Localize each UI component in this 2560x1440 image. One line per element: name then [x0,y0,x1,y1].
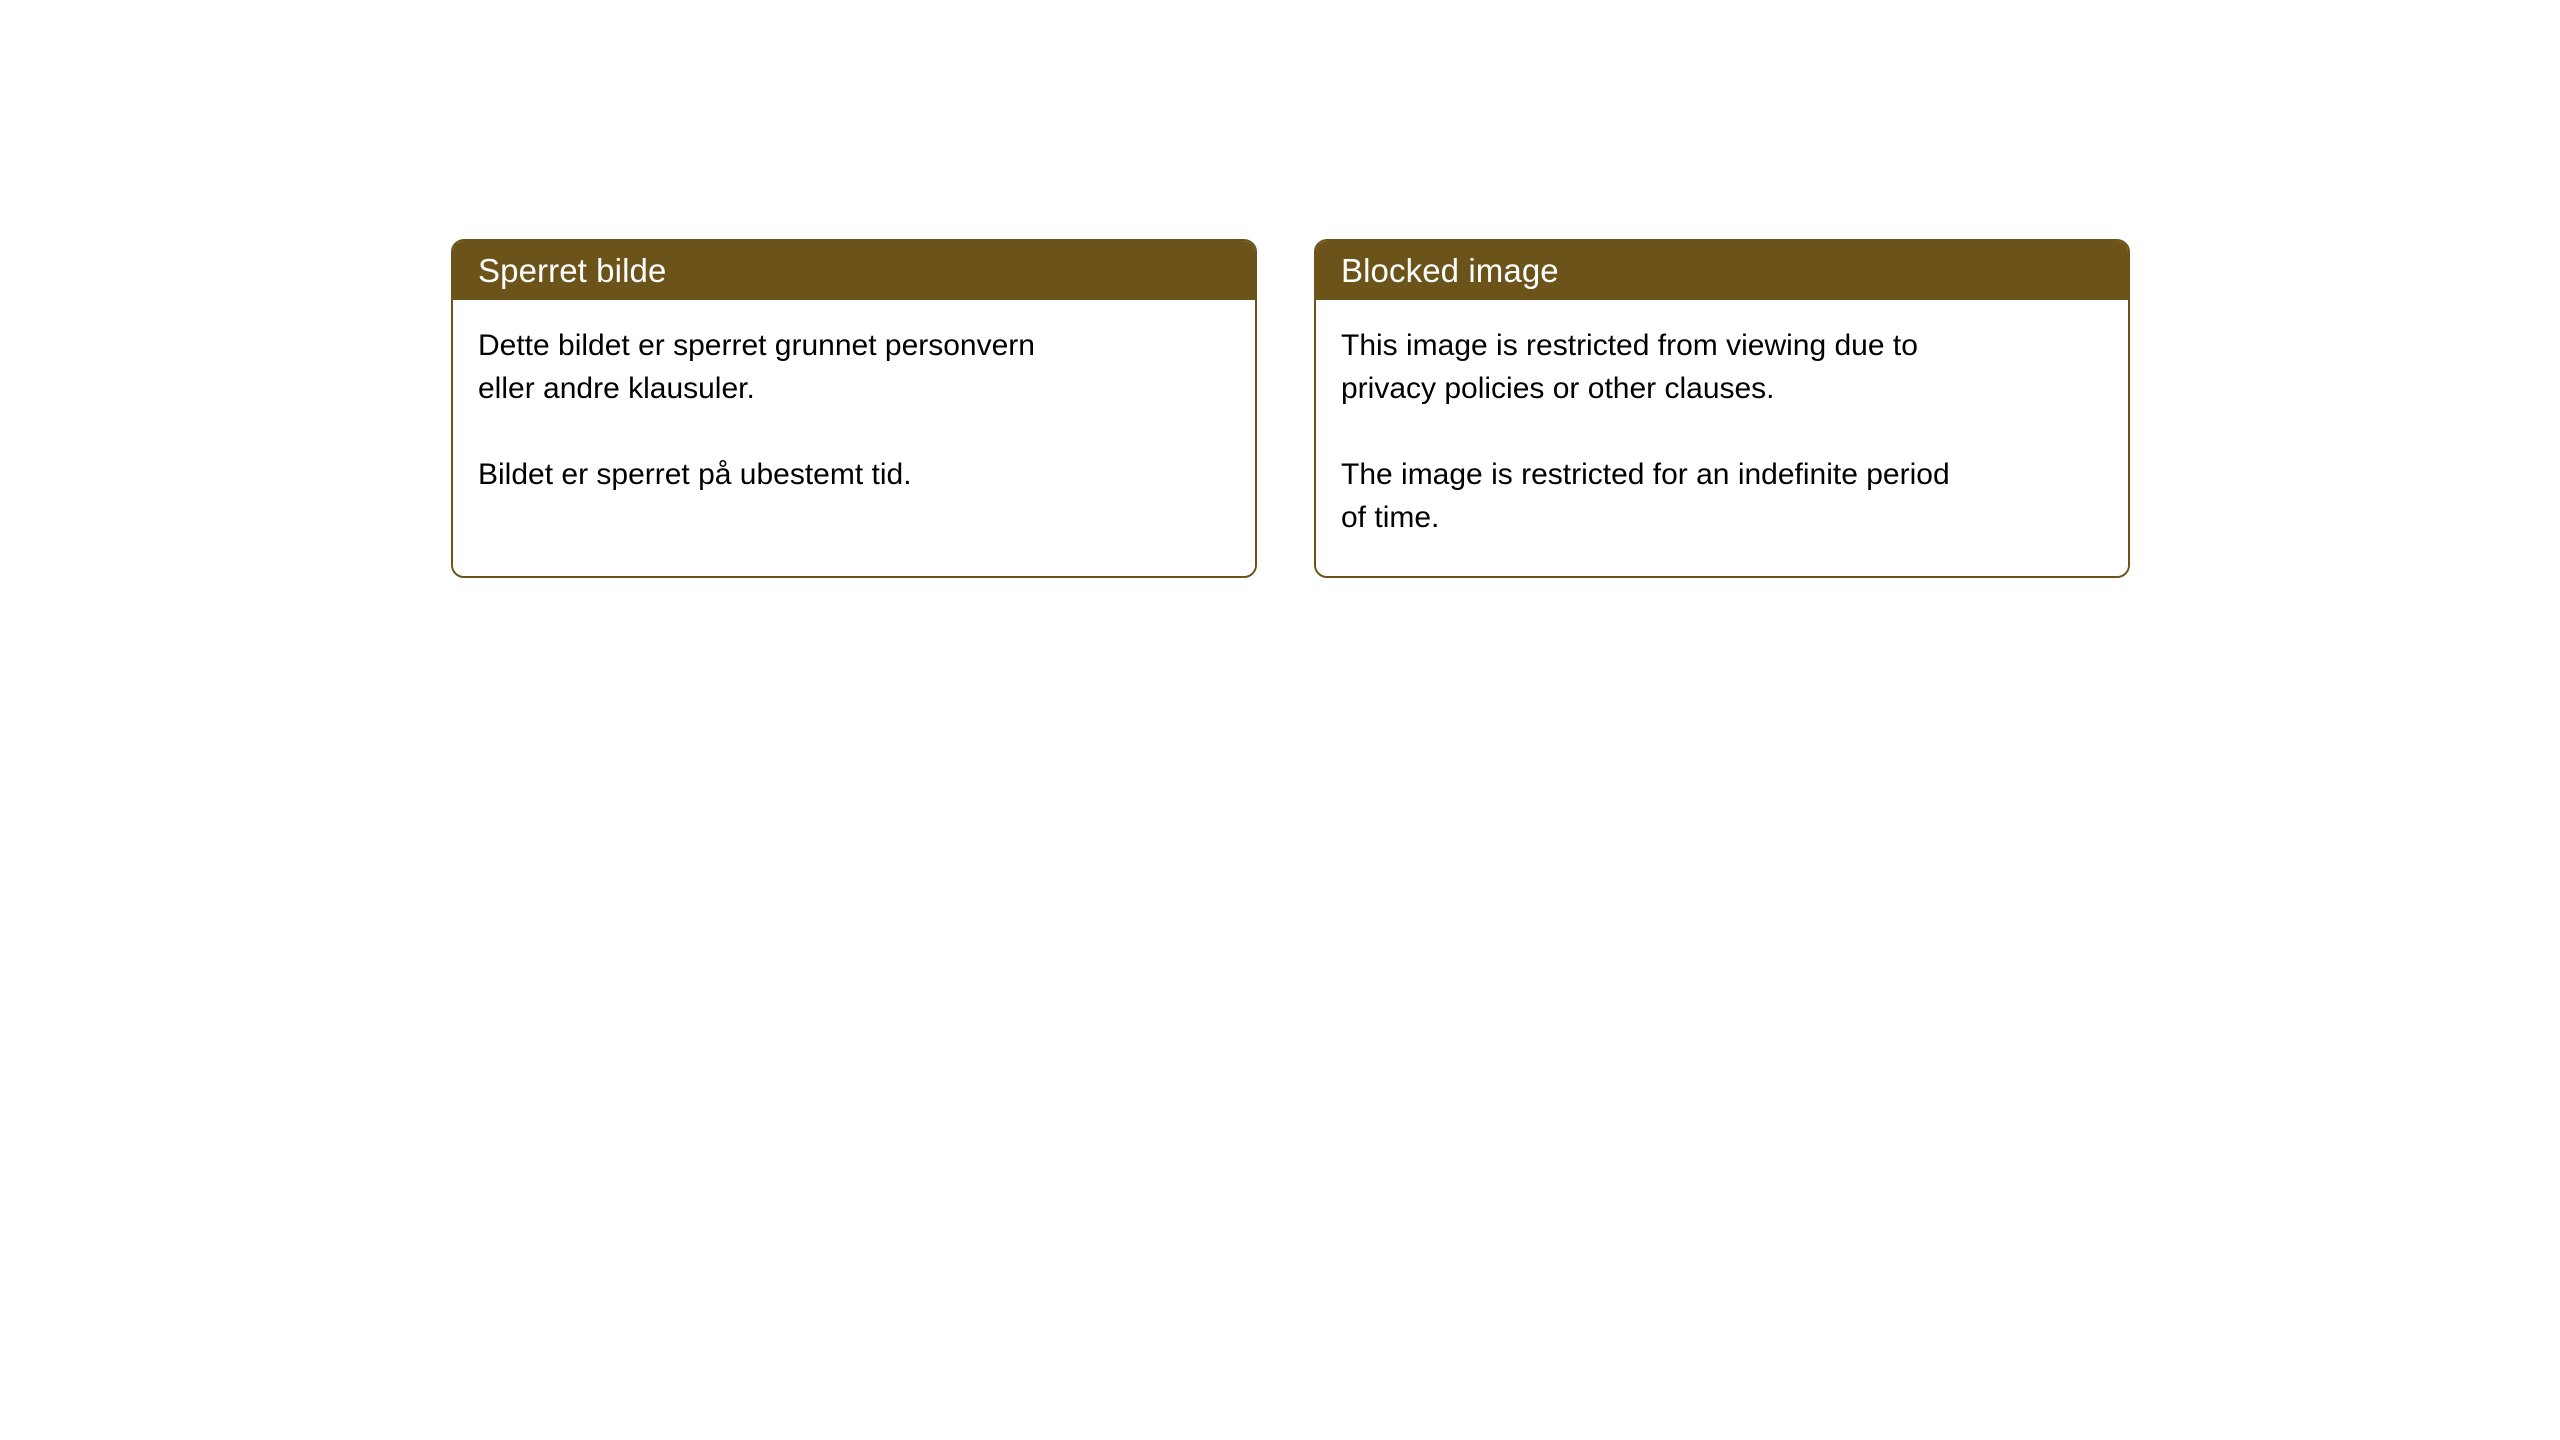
card-body-english: This image is restricted from viewing du… [1316,300,2128,576]
card-paragraph-norwegian-1: Dette bildet er sperret grunnet personve… [478,324,1229,410]
blocked-image-card-norwegian: Sperret bilde Dette bildet er sperret gr… [451,239,1257,578]
blocked-image-notice-container: Sperret bilde Dette bildet er sperret gr… [451,239,2130,578]
card-header-english: Blocked image [1316,241,2128,300]
card-paragraph-norwegian-2: Bildet er sperret på ubestemt tid. [478,453,1229,496]
paragraph-spacer [478,410,1229,453]
card-paragraph-english-1: This image is restricted from viewing du… [1341,324,2102,410]
card-paragraph-english-2: The image is restricted for an indefinit… [1341,453,2102,539]
card-body-norwegian: Dette bildet er sperret grunnet personve… [453,300,1255,576]
card-title-english: Blocked image [1341,254,1559,287]
card-header-norwegian: Sperret bilde [453,241,1255,300]
blocked-image-card-english: Blocked image This image is restricted f… [1314,239,2130,578]
paragraph-spacer [1341,410,2102,453]
card-title-norwegian: Sperret bilde [478,254,666,287]
